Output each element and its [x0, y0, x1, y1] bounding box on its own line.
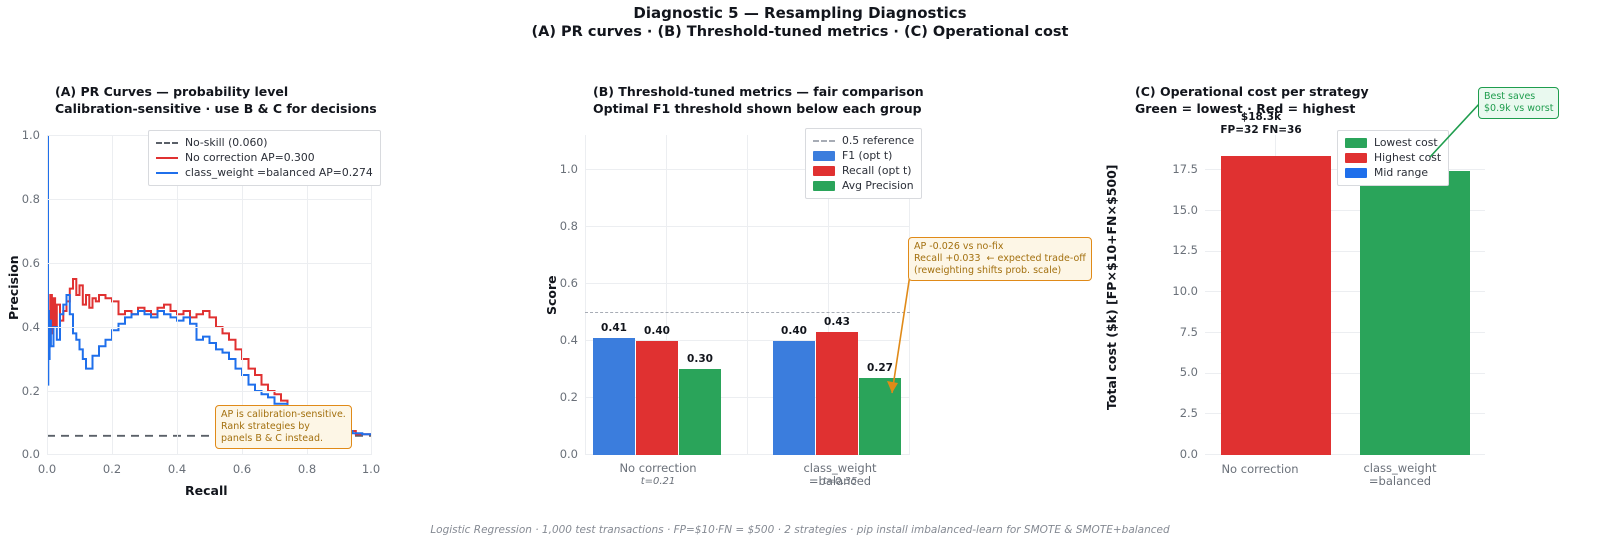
panel-b-ytick: 0.8	[544, 219, 578, 233]
gridline-h	[47, 327, 372, 328]
panel-c-annotation: Best saves $0.9k vs worst	[1478, 87, 1559, 119]
panel-c-xtick-group1: No correction	[1190, 462, 1330, 476]
legend-label: No-skill (0.060)	[185, 136, 267, 149]
legend-label: Lowest cost	[1374, 136, 1438, 149]
panel-a-ytick: 1.0	[6, 128, 40, 142]
suptitle-line-1: Diagnostic 5 — Resampling Diagnostics	[0, 4, 1600, 23]
legend-label: Recall (opt t)	[842, 164, 911, 177]
panel-c-ytick: 2.5	[1152, 406, 1198, 420]
bar-f1-group2[interactable]	[773, 341, 815, 455]
panel-a-yaxis-label: Precision	[6, 255, 21, 320]
panel-c-ytick: 0.0	[1152, 447, 1198, 461]
color-swatch	[1345, 153, 1367, 163]
legend-item[interactable]: F1 (opt t)	[813, 148, 914, 163]
panel-b-title-line-1: (B) Threshold-tuned metrics — fair compa…	[593, 84, 924, 101]
gridline-h	[585, 226, 910, 227]
panel-a-title: (A) PR Curves — probability level Calibr…	[55, 84, 377, 117]
panel-b-xtick-group1: No correction	[588, 462, 728, 475]
panel-a-xaxis-label: Recall	[185, 483, 228, 498]
legend-item[interactable]: Mid range	[1345, 165, 1441, 180]
panel-a-ytick: 0.8	[6, 192, 40, 206]
panel-a-ytick: 0.0	[6, 447, 40, 461]
panel-b-threshold-group2: t=0.35	[770, 476, 910, 487]
panel-b-threshold-group1: t=0.21	[588, 476, 728, 487]
bar-ap-group2[interactable]	[859, 378, 901, 455]
panel-c-bar-label-1: $18.3k FP=32 FN=36	[1161, 111, 1361, 136]
gridline-h	[47, 199, 372, 200]
panel-b-ytick: 0.4	[544, 333, 578, 347]
panel-a-xtick: 0.0	[27, 462, 67, 476]
panel-c-ytick: 17.5	[1152, 162, 1198, 176]
panel-a-xtick: 1.0	[351, 462, 391, 476]
panel-a-pr-curves: (A) PR Curves — probability level Calibr…	[0, 80, 430, 520]
panel-b-ytick: 0.0	[544, 447, 578, 461]
legend-label: Highest cost	[1374, 151, 1441, 164]
gridline-h	[47, 391, 372, 392]
line-icon	[156, 172, 178, 174]
group1-label: No correction	[619, 461, 696, 475]
dashed-line-icon	[813, 140, 835, 142]
legend-item[interactable]: Highest cost	[1345, 150, 1441, 165]
color-swatch	[813, 151, 835, 161]
legend-label: F1 (opt t)	[842, 149, 892, 162]
legend-item[interactable]: class_weight =balanced AP=0.274	[156, 165, 373, 180]
bar-value-label: 0.30	[676, 353, 724, 365]
bar-value-label: 0.40	[633, 325, 681, 337]
bar-value-label: 0.27	[856, 362, 904, 374]
legend-label: 0.5 reference	[842, 134, 914, 147]
panel-a-annotation: AP is calibration-sensitive. Rank strate…	[215, 405, 352, 449]
reference-line-0.5	[585, 312, 910, 313]
legend-item[interactable]: 0.5 reference	[813, 133, 914, 148]
panel-a-legend: No-skill (0.060) No correction AP=0.300 …	[148, 130, 381, 186]
bar-value-label: 0.41	[590, 322, 638, 334]
panel-b-yaxis-label: Score	[544, 275, 559, 315]
dashed-line-icon	[156, 142, 178, 144]
panel-c-yaxis-label: Total cost ($k) [FP×$10+FN×$500]	[1104, 165, 1119, 410]
bar-f1-group1[interactable]	[593, 338, 635, 455]
legend-label: class_weight =balanced AP=0.274	[185, 166, 373, 179]
panel-c-ytick: 15.0	[1152, 203, 1198, 217]
gridline-h	[585, 283, 910, 284]
gridline-v	[747, 135, 748, 455]
legend-item[interactable]: Recall (opt t)	[813, 163, 914, 178]
legend-item[interactable]: No-skill (0.060)	[156, 135, 373, 150]
panel-b-ytick: 0.2	[544, 390, 578, 404]
panel-a-ytick: 0.4	[6, 320, 40, 334]
bar-value-label: 0.40	[770, 325, 818, 337]
panel-a-xtick: 0.8	[287, 462, 327, 476]
panel-b-legend: 0.5 reference F1 (opt t) Recall (opt t) …	[805, 128, 922, 199]
color-swatch	[1345, 168, 1367, 178]
panel-a-xtick: 0.6	[222, 462, 262, 476]
panel-c-ytick: 10.0	[1152, 284, 1198, 298]
panel-c-ytick: 7.5	[1152, 325, 1198, 339]
panel-c-title-line-1: (C) Operational cost per strategy	[1135, 84, 1369, 101]
panel-c-xtick-group2: class_weight =balanced	[1330, 462, 1470, 488]
color-swatch	[813, 166, 835, 176]
panel-a-title-line-2: Calibration-sensitive · use B & C for de…	[55, 101, 377, 118]
panel-b-title: (B) Threshold-tuned metrics — fair compa…	[593, 84, 924, 117]
line-icon	[156, 157, 178, 159]
panel-a-xtick: 0.2	[92, 462, 132, 476]
bar-recall-group1[interactable]	[636, 341, 678, 455]
legend-label: No correction AP=0.300	[185, 151, 315, 164]
panel-a-ytick: 0.2	[6, 384, 40, 398]
gridline-v	[585, 135, 586, 455]
panel-b-title-line-2: Optimal F1 threshold shown below each gr…	[593, 101, 924, 118]
gridline-v	[47, 135, 48, 455]
gridline-v	[112, 135, 113, 455]
legend-label: Mid range	[1374, 166, 1428, 179]
figure-suptitle: Diagnostic 5 — Resampling Diagnostics (A…	[0, 4, 1600, 42]
panel-c-operational-cost: (C) Operational cost per strategy Green …	[1090, 80, 1600, 520]
legend-label: Avg Precision	[842, 179, 914, 192]
panel-a-xtick: 0.4	[157, 462, 197, 476]
panel-b-annotation: AP -0.026 vs no-fix Recall +0.033 ← expe…	[908, 237, 1092, 281]
panel-c-ytick: 12.5	[1152, 243, 1198, 257]
legend-item[interactable]: Lowest cost	[1345, 135, 1441, 150]
panel-c-legend: Lowest cost Highest cost Mid range	[1337, 130, 1449, 186]
panel-b-ytick: 1.0	[544, 162, 578, 176]
panel-c-ytick: 5.0	[1152, 365, 1198, 379]
figure-footer: Logistic Regression · 1,000 test transac…	[0, 524, 1600, 536]
bar-cost-value: $18.3k	[1161, 111, 1361, 124]
bar-recall-group2[interactable]	[816, 332, 858, 455]
bar-ap-group1[interactable]	[679, 369, 721, 455]
gridline-h	[47, 263, 372, 264]
panel-b-threshold-metrics: (B) Threshold-tuned metrics — fair compa…	[530, 80, 1090, 520]
bar-cost-no-correction[interactable]	[1221, 156, 1331, 455]
bar-cost-class-weight-balanced[interactable]	[1360, 171, 1470, 455]
color-swatch	[1345, 138, 1367, 148]
color-swatch	[813, 181, 835, 191]
gridline-h	[47, 454, 372, 455]
legend-item[interactable]: Avg Precision	[813, 178, 914, 193]
suptitle-line-2: (A) PR curves · (B) Threshold-tuned metr…	[0, 23, 1600, 42]
legend-item[interactable]: No correction AP=0.300	[156, 150, 373, 165]
bar-value-label: 0.43	[813, 316, 861, 328]
panel-a-title-line-1: (A) PR Curves — probability level	[55, 84, 377, 101]
bar-cost-detail: FP=32 FN=36	[1161, 124, 1361, 137]
